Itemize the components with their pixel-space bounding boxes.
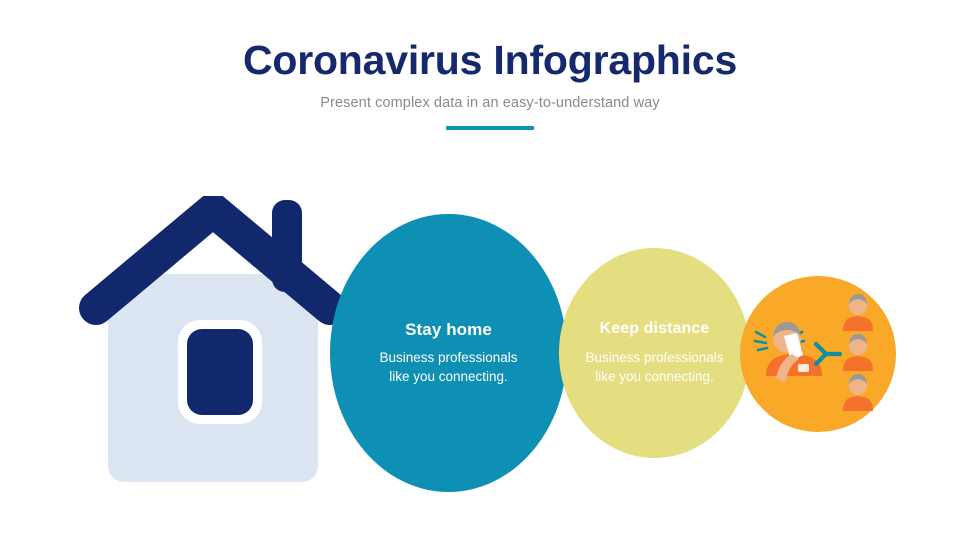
- circle-stay-home[interactable]: Stay home Business professionals like yo…: [330, 214, 567, 492]
- house-icon: [78, 196, 348, 488]
- circle-heading-stay-home: Stay home: [405, 320, 492, 340]
- circle-body-line1: Business professionals: [379, 350, 517, 365]
- slide-canvas: Coronavirus Infographics Present complex…: [0, 0, 980, 551]
- house-roof-icon: [78, 196, 348, 326]
- circle-contagion[interactable]: [740, 276, 896, 432]
- circle-body-line1: Business professionals: [585, 350, 723, 365]
- circle-keep-distance[interactable]: Keep distance Business professionals lik…: [559, 248, 750, 458]
- house-door-icon: [187, 329, 253, 415]
- circle-body-line2: like you connecting.: [595, 369, 714, 384]
- circle-body-keep-distance: Business professionals like you connecti…: [585, 348, 723, 386]
- infographic-scene: Stay home Business professionals like yo…: [0, 0, 980, 551]
- circle-body-stay-home: Business professionals like you connecti…: [379, 348, 517, 386]
- circle-heading-keep-distance: Keep distance: [600, 320, 710, 338]
- house-door-ring: [178, 320, 262, 424]
- circle-body-line2: like you connecting.: [389, 369, 508, 384]
